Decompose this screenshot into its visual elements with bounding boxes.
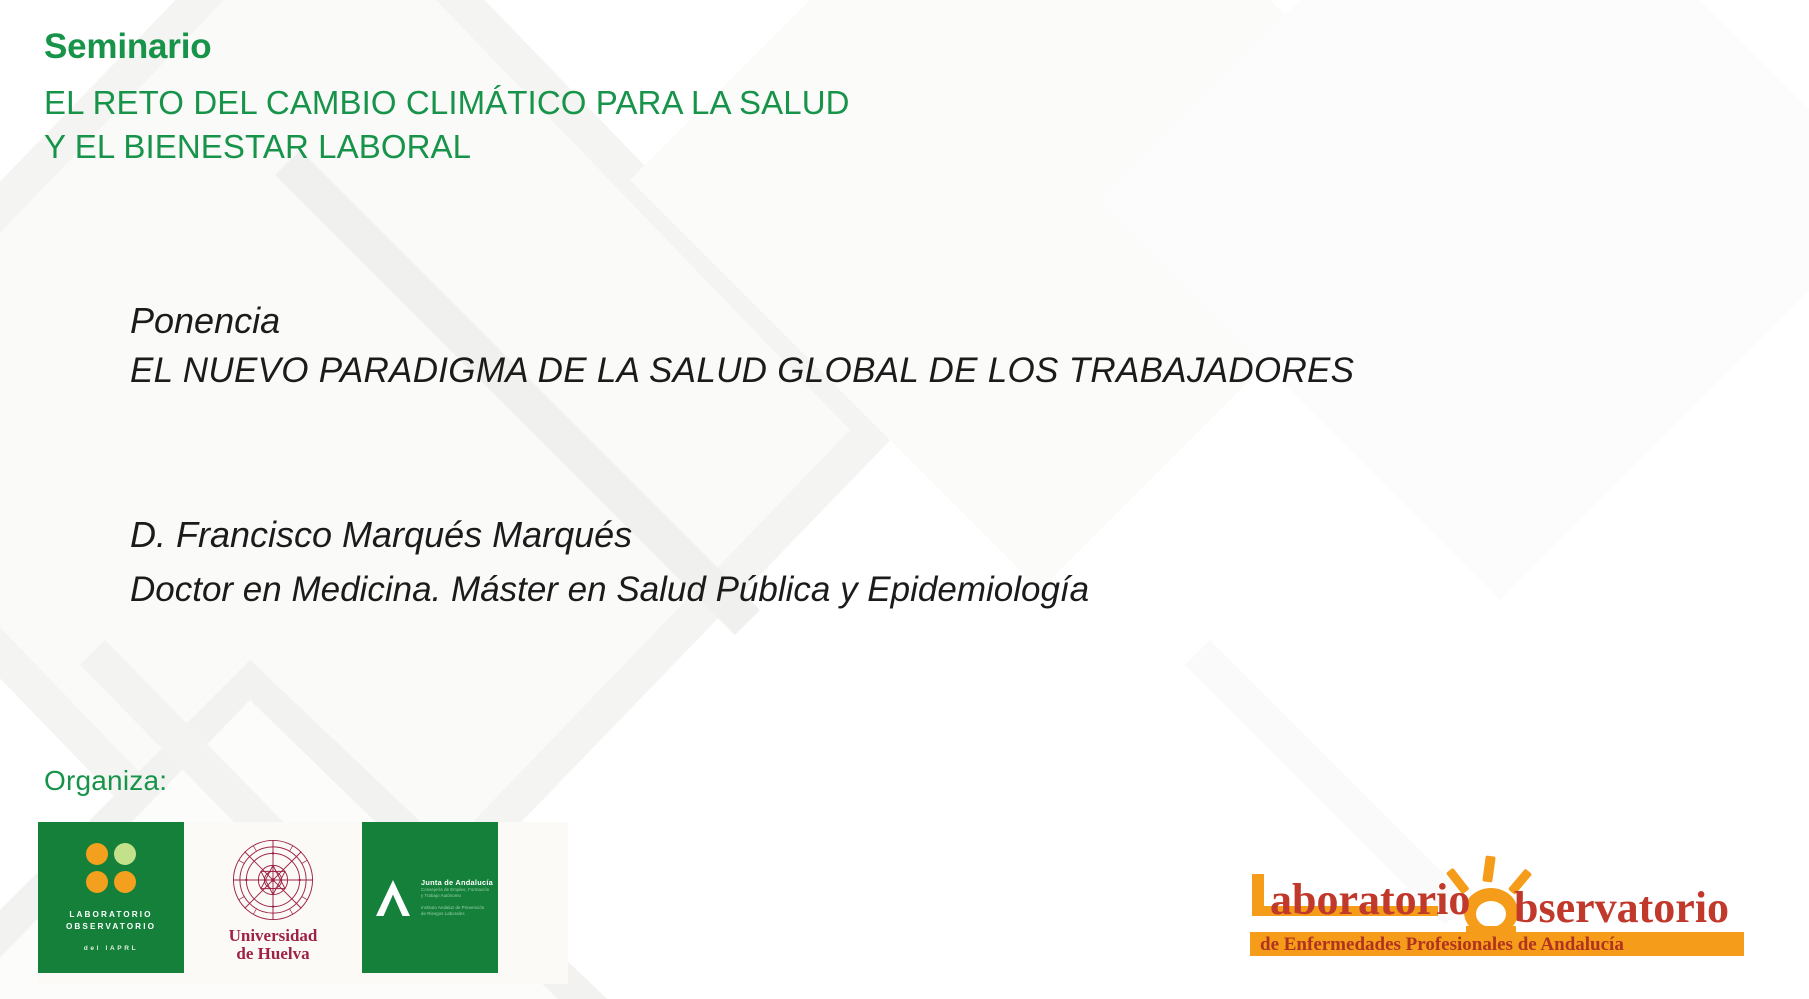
ponencia-section: Ponencia EL NUEVO PARADIGMA DE LA SALUD … bbox=[130, 298, 1354, 393]
huelva-wordmark-line-1: Universidad bbox=[229, 926, 318, 945]
junta-line-3: Instituto Andaluz de Prevención bbox=[421, 905, 493, 911]
logo-laboratorio-observatorio-iaprl: LABORATORIO OBSERVATORIO del IAPRL bbox=[38, 822, 184, 973]
brand-banner-text: de Enfermedades Profesionales de Andaluc… bbox=[1260, 934, 1624, 955]
speaker-role: Doctor en Medicina. Máster en Salud Públ… bbox=[130, 567, 1089, 613]
ponencia-label: Ponencia bbox=[130, 298, 1354, 343]
junta-title: Junta de Andalucía bbox=[421, 878, 493, 887]
organizer-logo-strip: LABORATORIO OBSERVATORIO del IAPRL bbox=[38, 822, 568, 984]
logo-junta-de-andalucia: Junta de Andalucía Consejería de Empleo,… bbox=[362, 822, 498, 973]
huelva-wordmark: Universidad de Huelva bbox=[229, 927, 318, 963]
page-title-line-1: EL RETO DEL CAMBIO CLIMÁTICO PARA LA SAL… bbox=[44, 81, 850, 125]
junta-andalucia-a-icon bbox=[374, 878, 412, 918]
presentation-slide: Seminario EL RETO DEL CAMBIO CLIMÁTICO P… bbox=[0, 0, 1809, 999]
logo-universidad-de-huelva: Universidad de Huelva bbox=[184, 822, 362, 973]
slide-header: Seminario EL RETO DEL CAMBIO CLIMÁTICO P… bbox=[44, 26, 850, 168]
page-title-line-2: Y EL BIENESTAR LABORAL bbox=[44, 125, 850, 169]
seminar-kicker: Seminario bbox=[44, 26, 850, 67]
four-dots-icon bbox=[86, 843, 136, 893]
brand-word-right: bservatorio bbox=[1514, 883, 1729, 932]
junta-text-block: Junta de Andalucía Consejería de Empleo,… bbox=[421, 878, 493, 918]
huelva-wordmark-line-2: de Huelva bbox=[229, 945, 318, 963]
speaker-name: D. Francisco Marqués Marqués bbox=[130, 512, 1089, 559]
huelva-seal-icon bbox=[230, 837, 316, 923]
junta-line-4: de Riesgos Laborales bbox=[421, 911, 493, 917]
speaker-section: D. Francisco Marqués Marqués Doctor en M… bbox=[130, 512, 1089, 612]
organiza-label: Organiza: bbox=[44, 765, 167, 797]
brand-word-left: aboratorio bbox=[1270, 875, 1470, 924]
page-title: EL RETO DEL CAMBIO CLIMÁTICO PARA LA SAL… bbox=[44, 81, 850, 168]
ponencia-title: EL NUEVO PARADIGMA DE LA SALUD GLOBAL DE… bbox=[130, 349, 1354, 393]
iaprl-wordmark-line-2: OBSERVATORIO bbox=[66, 921, 156, 933]
iaprl-wordmark-line-1: LABORATORIO bbox=[69, 909, 152, 921]
iaprl-wordmark-line-3: del IAPRL bbox=[84, 945, 139, 952]
logo-laboratorio-observatorio-enfermedades: aboratorio bservatorio de Enfermedades P… bbox=[1248, 852, 1756, 960]
